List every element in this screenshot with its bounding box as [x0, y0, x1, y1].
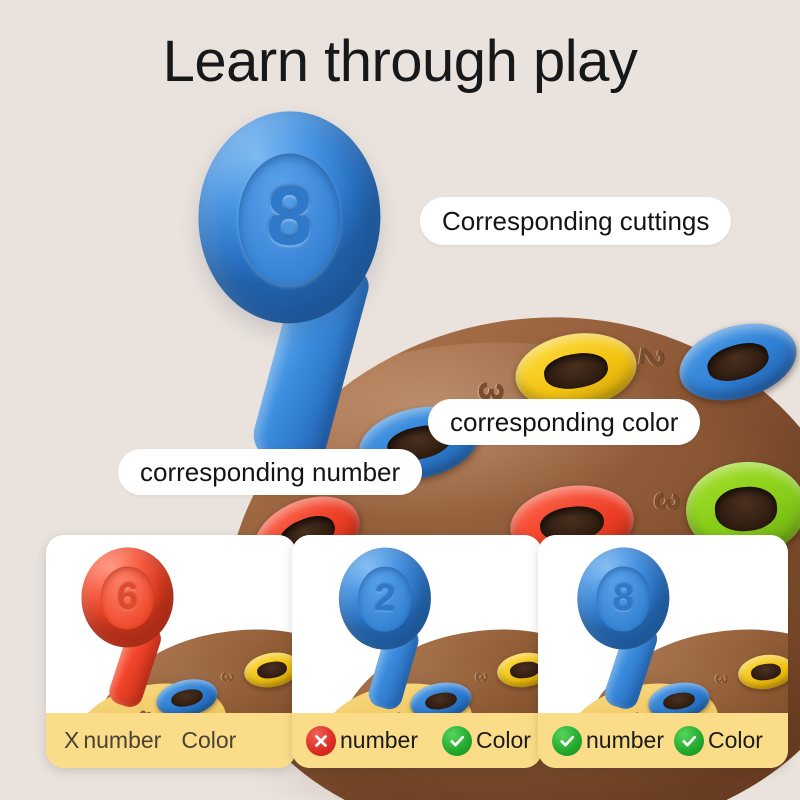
card-peg: 6 [61, 535, 212, 711]
caption-color-result: Color [442, 726, 531, 756]
caption-color-result: Color [181, 727, 236, 754]
peg-head: 2 [337, 546, 433, 651]
card-emboss-side: 3 [710, 673, 731, 685]
caption-color-result: Color [674, 726, 763, 756]
caption-number-label: number [586, 727, 664, 754]
comparison-card-wrong-both[interactable]: 8 3 6 X number Color [46, 535, 296, 768]
peg-number: 8 [576, 546, 672, 651]
card-peg: 2 [321, 536, 470, 711]
callout-corresponding-number: corresponding number [118, 449, 422, 495]
check-icon [674, 726, 704, 756]
caption-number-result: X number [64, 727, 161, 754]
caption-number-label: number [83, 727, 161, 754]
card-emboss-side: 3 [470, 671, 491, 683]
check-icon [442, 726, 472, 756]
card-caption: number Color [292, 713, 542, 768]
peg-head: 8 [197, 110, 383, 325]
peg-number: 8 [197, 110, 383, 325]
caption-color-label: Color [708, 727, 763, 754]
caption-number-label: number [340, 727, 418, 754]
comparison-card-correct[interactable]: 8 3 8 number [538, 535, 788, 768]
page-title: Learn through play [0, 32, 800, 93]
callout-corresponding-color: corresponding color [428, 399, 700, 445]
peg-head: 6 [80, 546, 175, 649]
peg-head: 8 [576, 546, 672, 651]
cross-icon [306, 726, 336, 756]
poster-stage: Learn through play 3 2 8 3 8 C [0, 0, 800, 800]
callout-corresponding-cuttings: Corresponding cuttings [420, 197, 731, 245]
card-scene: 8 3 6 [46, 535, 296, 713]
card-emboss-side: 3 [216, 671, 237, 683]
card-caption: number Color [538, 713, 788, 768]
card-scene: 8 3 8 [538, 535, 788, 713]
comparison-card-wrong-number[interactable]: 8 3 2 number [292, 535, 542, 768]
caption-number-result: number [306, 726, 418, 756]
caption-number-result: number [552, 726, 664, 756]
check-icon [552, 726, 582, 756]
card-peg: 8 [557, 535, 708, 711]
caption-color-label: Color [476, 727, 531, 754]
peg-number: 2 [337, 546, 433, 651]
peg-number: 6 [80, 546, 175, 649]
hero-peg[interactable]: 8 [169, 98, 453, 462]
x-mark-icon: X [64, 729, 79, 752]
card-caption: X number Color [46, 713, 296, 768]
card-scene: 8 3 2 [292, 535, 542, 713]
caption-color-label: Color [181, 727, 236, 754]
toy-emboss-3-b: 3 [645, 490, 686, 513]
